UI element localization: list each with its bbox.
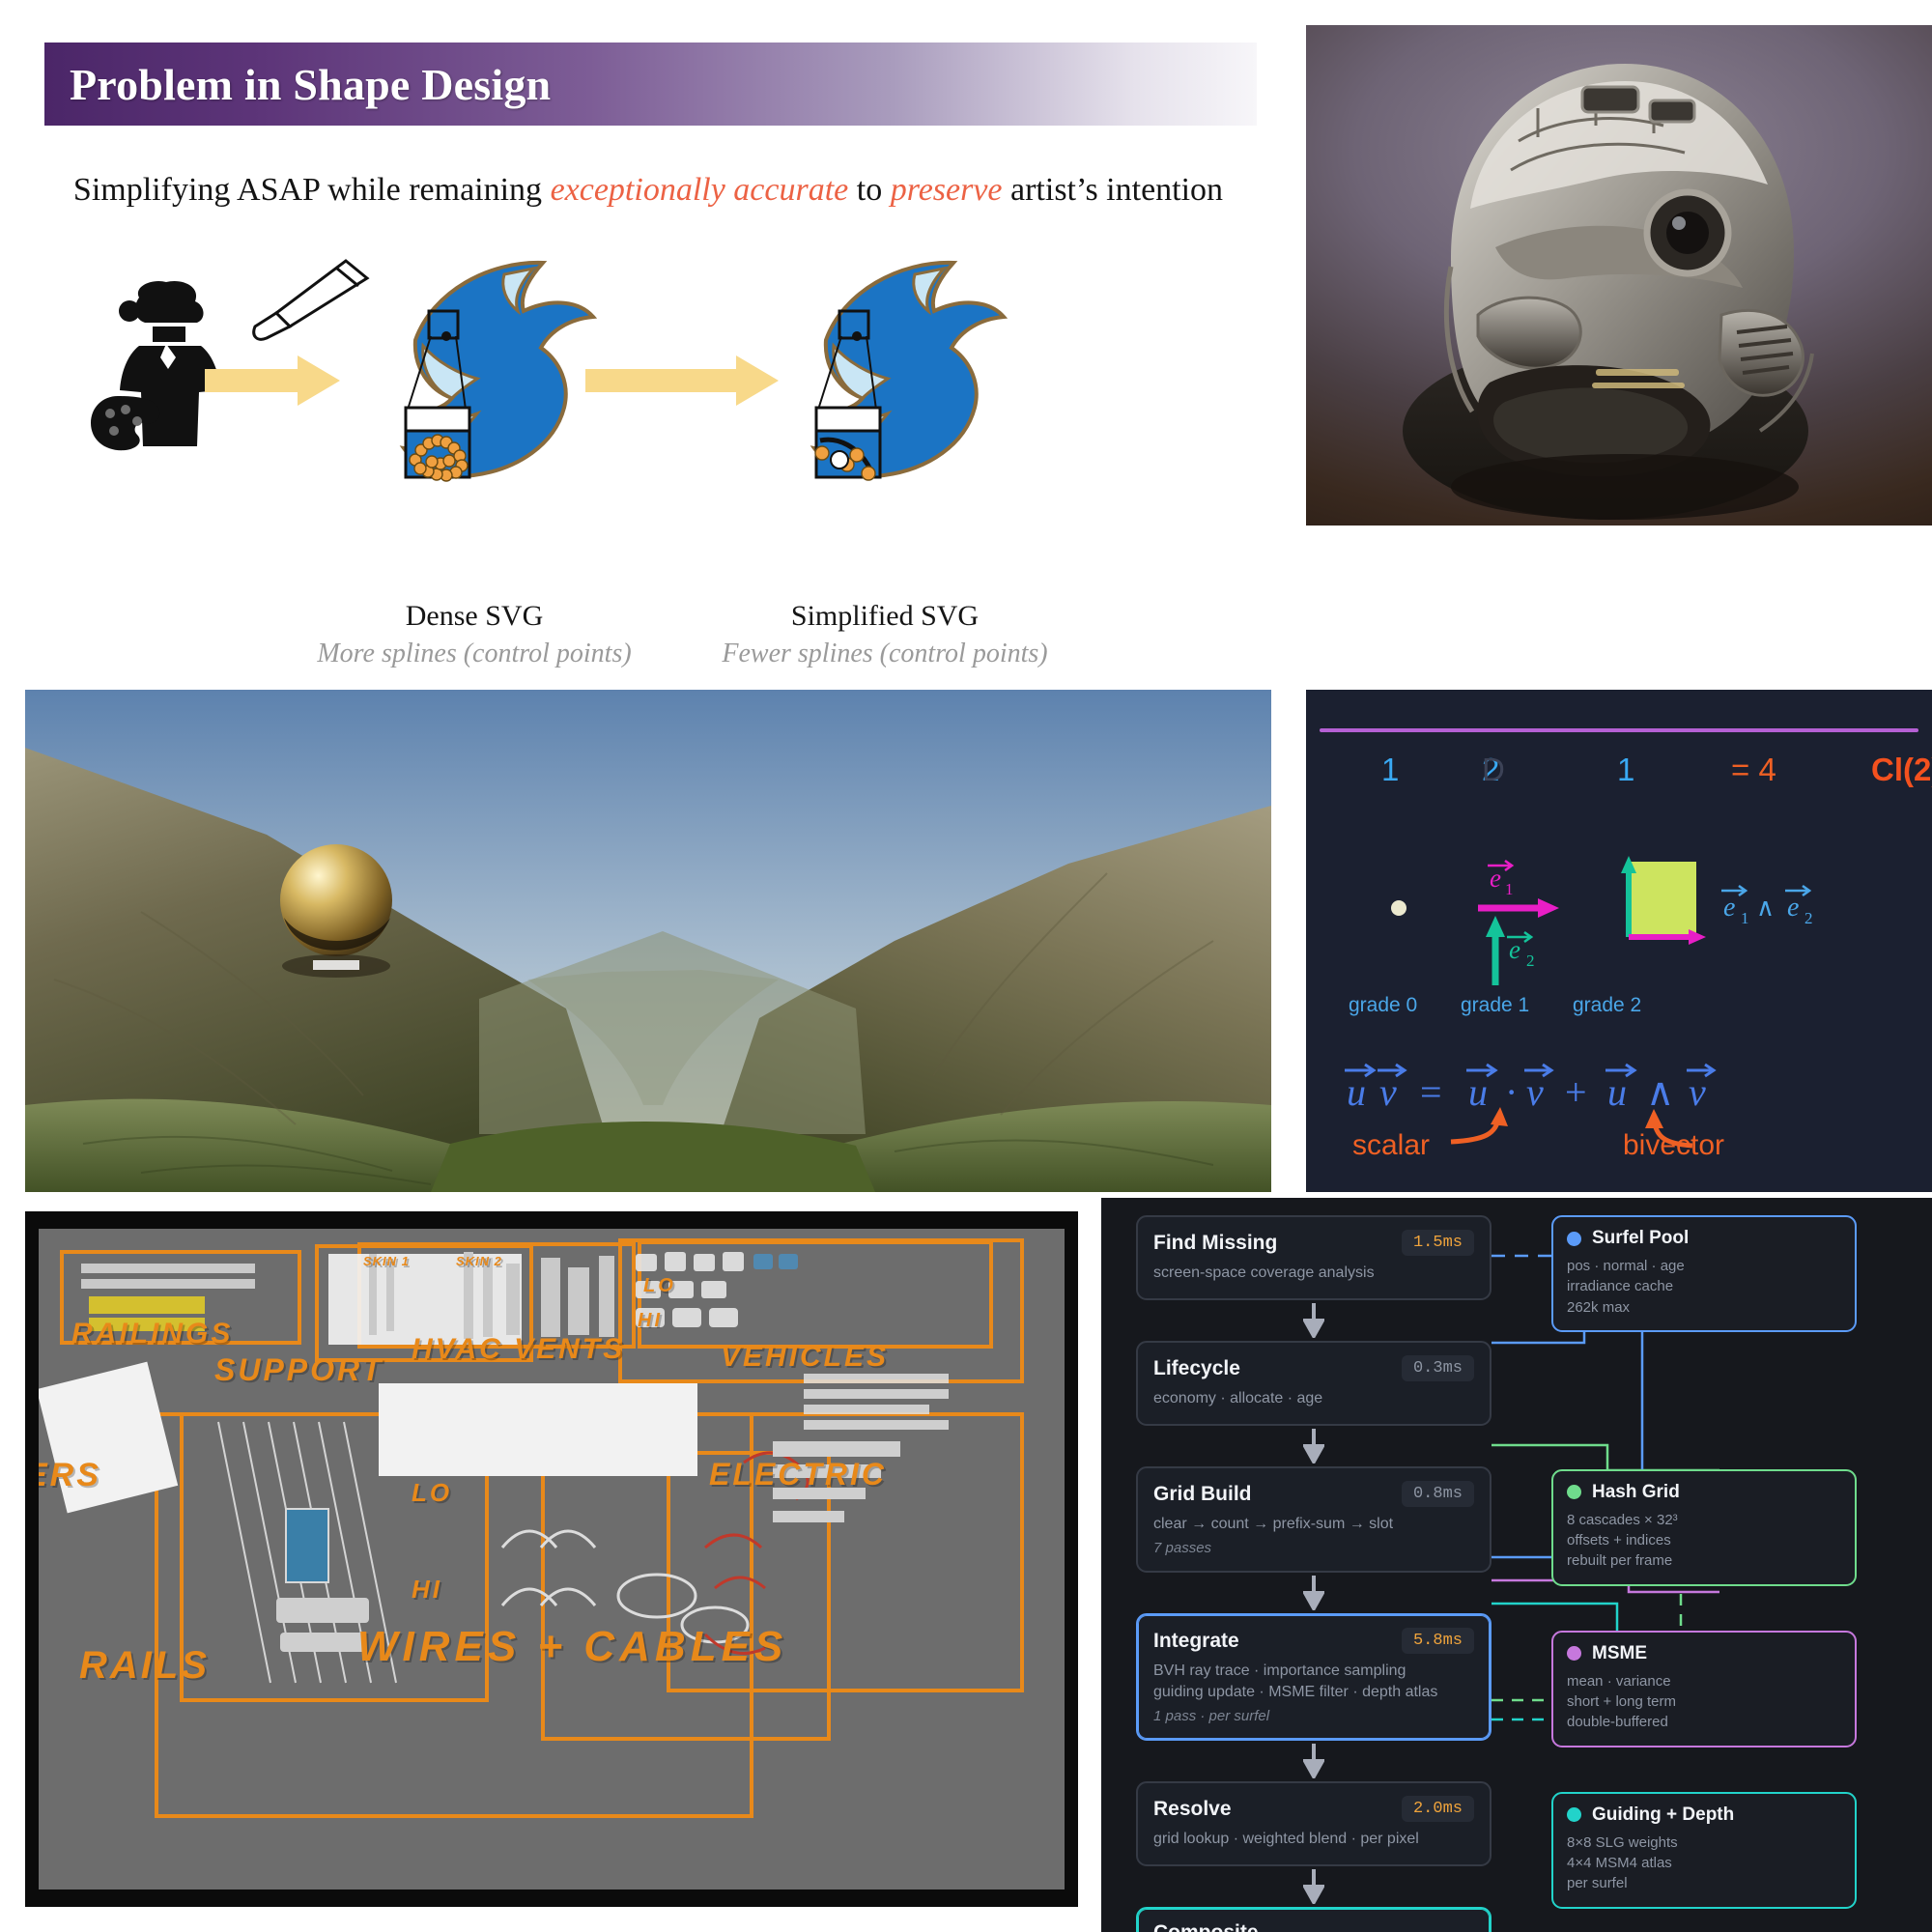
resource-line: rebuilt per frame bbox=[1567, 1550, 1841, 1571]
bivector-label: e 1 ∧ e 2 bbox=[1721, 886, 1813, 927]
resource-line: pos · normal · age bbox=[1567, 1256, 1841, 1276]
node-note: 1 pass · per surfel bbox=[1153, 1708, 1474, 1724]
zone-label-electric: ELECTRIC bbox=[709, 1457, 887, 1492]
flow-arrow-3 bbox=[1136, 1573, 1492, 1613]
algebra-label: Cl(2) bbox=[1871, 752, 1932, 788]
caption-dense-sub: More splines (control points) bbox=[300, 639, 648, 668]
lod-tag-hi-mid: HI bbox=[412, 1575, 442, 1605]
helmet-artwork bbox=[1306, 25, 1932, 526]
resource-card-msme[interactable]: MSME mean · variance short + long term d… bbox=[1551, 1631, 1857, 1747]
svg-text:·: · bbox=[1505, 1070, 1518, 1114]
node-timing-badge: 0.8ms bbox=[1402, 1481, 1474, 1507]
svg-text:e: e bbox=[1490, 864, 1501, 893]
arrow-down-icon bbox=[1303, 1429, 1324, 1463]
svg-text:1: 1 bbox=[1505, 880, 1514, 898]
svg-text:2: 2 bbox=[1526, 952, 1535, 970]
flow-arrow-1 bbox=[1136, 1300, 1492, 1341]
svg-text:v: v bbox=[1379, 1070, 1397, 1114]
resource-header: Guiding + Depth bbox=[1567, 1804, 1841, 1826]
grade-count-0: 1 bbox=[1381, 752, 1399, 788]
pipeline-node-lifecycle[interactable]: Lifecycle 0.3ms economy · allocate · age bbox=[1136, 1341, 1492, 1426]
node-title: Lifecycle bbox=[1153, 1357, 1240, 1380]
basis-elements-diagram: e 1 e 2 e 1 ∧ bbox=[1306, 815, 1932, 989]
zone-label-wires-cables: WIRES + CABLES bbox=[357, 1623, 787, 1671]
caption-simplified-title: Simplified SVG bbox=[711, 600, 1059, 633]
caption-dense-title: Dense SVG bbox=[300, 600, 648, 633]
resource-body: 8×8 SLG weights 4×4 MSM4 atlas per surfe… bbox=[1567, 1833, 1841, 1894]
svg-text:e: e bbox=[1509, 935, 1520, 964]
resource-line: 262k max bbox=[1567, 1297, 1841, 1318]
status-dot-icon bbox=[1567, 1646, 1581, 1661]
pipeline-flowchart: Find Missing 1.5ms screen-space coverage… bbox=[1101, 1198, 1932, 1932]
node-title: Integrate bbox=[1153, 1630, 1239, 1653]
node-title: Find Missing bbox=[1153, 1232, 1277, 1255]
node-note: 7 passes bbox=[1153, 1540, 1474, 1556]
resource-header: Surfel Pool bbox=[1567, 1228, 1841, 1249]
node-timing-badge: 2.0ms bbox=[1402, 1796, 1474, 1822]
svg-text:e: e bbox=[1723, 893, 1735, 923]
pipeline-node-grid-build[interactable]: Grid Build 0.8ms clear → count → prefix-… bbox=[1136, 1466, 1492, 1573]
resource-line: irradiance cache bbox=[1567, 1276, 1841, 1296]
node-header: Find Missing 1.5ms bbox=[1153, 1230, 1474, 1256]
shape-design-slide: Problem in Shape Design Simplifying ASAP… bbox=[25, 25, 1271, 668]
subtitle-part-2: to bbox=[848, 172, 890, 208]
svg-text:u: u bbox=[1468, 1070, 1488, 1114]
grade-legend-1: grade 1 bbox=[1461, 994, 1529, 1017]
resource-title: Guiding + Depth bbox=[1592, 1804, 1734, 1826]
page-title: Problem in Shape Design bbox=[44, 59, 551, 110]
grade-count-2: 1 bbox=[1617, 752, 1634, 788]
resource-line: 4×4 MSM4 atlas bbox=[1567, 1853, 1841, 1873]
resource-header: MSME bbox=[1567, 1643, 1841, 1664]
slide-subtitle: Simplifying ASAP while remaining excepti… bbox=[25, 172, 1271, 209]
pipeline-resource-column: Surfel Pool pos · normal · age irradianc… bbox=[1551, 1215, 1857, 1909]
arrow-down-icon bbox=[1303, 1869, 1324, 1904]
caption-dense: Dense SVG More splines (control points) bbox=[300, 600, 648, 668]
flow-arrow-4 bbox=[1136, 1741, 1492, 1781]
divider-rule bbox=[1320, 728, 1918, 732]
zone-label-hvac: HVAC VENTS bbox=[412, 1333, 625, 1366]
resource-card-guiding-depth[interactable]: Guiding + Depth 8×8 SLG weights 4×4 MSM4… bbox=[1551, 1792, 1857, 1909]
arrow-right-icon-2 bbox=[585, 355, 779, 406]
pipeline-illustration bbox=[25, 267, 1271, 556]
svg-text:e: e bbox=[1787, 893, 1799, 923]
pipeline-node-resolve[interactable]: Resolve 2.0ms grid lookup · weighted ble… bbox=[1136, 1781, 1492, 1866]
arrow-down-icon bbox=[1303, 1744, 1324, 1778]
lod-tag-lo-top: LO bbox=[643, 1275, 676, 1297]
resource-card-hash-grid[interactable]: Hash Grid 8 cascades × 32³ offsets + ind… bbox=[1551, 1469, 1857, 1586]
subtitle-part-1: Simplifying ASAP while remaining bbox=[73, 172, 551, 208]
resource-line: short + long term bbox=[1567, 1691, 1841, 1712]
resource-title: Hash Grid bbox=[1592, 1482, 1680, 1503]
grade-counts-row: 1 2D 1 = 4 Cl(2) bbox=[1306, 752, 1932, 800]
status-dot-icon bbox=[1567, 1232, 1581, 1246]
lod-tag-hi-top: HI bbox=[638, 1310, 663, 1332]
annotation-bivector: bivector bbox=[1623, 1129, 1724, 1162]
status-dot-icon bbox=[1567, 1807, 1581, 1822]
node-timing-badge: 0.3ms bbox=[1402, 1355, 1474, 1381]
subtitle-emphasis-2: preserve bbox=[891, 172, 1003, 208]
zone-label-railings: RAILINGS bbox=[71, 1318, 233, 1350]
terrain-render-image bbox=[25, 690, 1271, 1192]
resource-title: MSME bbox=[1592, 1643, 1647, 1664]
status-dot-icon bbox=[1567, 1485, 1581, 1499]
pipeline-node-integrate[interactable]: Integrate 5.8ms BVH ray trace · importan… bbox=[1136, 1613, 1492, 1741]
resource-body: 8 cascades × 32³ offsets + indices rebui… bbox=[1567, 1510, 1841, 1572]
resource-line: 8 cascades × 32³ bbox=[1567, 1510, 1841, 1530]
arrow-down-icon bbox=[1303, 1303, 1324, 1338]
lod-tag-skin-2: SKIN 2 bbox=[456, 1254, 502, 1268]
caption-simplified-sub: Fewer splines (control points) bbox=[711, 639, 1059, 668]
svg-text:∧: ∧ bbox=[1646, 1070, 1674, 1114]
node-header: Resolve 2.0ms bbox=[1153, 1796, 1474, 1822]
slide-title-bar: Problem in Shape Design bbox=[44, 43, 1257, 126]
geometric-algebra-diagram: 1 2D 1 = 4 Cl(2) e 1 e 2 bbox=[1306, 690, 1932, 1192]
resource-body: mean · variance short + long term double… bbox=[1567, 1671, 1841, 1733]
svg-text:u: u bbox=[1607, 1070, 1627, 1114]
node-description: clear → count → prefix-sum → slot bbox=[1153, 1514, 1474, 1535]
zone-label-ers: ERS bbox=[39, 1457, 101, 1494]
lod-tag-skin-1: SKIN 1 bbox=[363, 1254, 410, 1268]
arrow-down-icon bbox=[1303, 1576, 1324, 1610]
dimension-sum: = 4 bbox=[1731, 752, 1776, 788]
e1-vector-icon: e 1 bbox=[1478, 861, 1559, 918]
collage-page: Problem in Shape Design Simplifying ASAP… bbox=[0, 0, 1932, 1932]
svg-text:1: 1 bbox=[1741, 909, 1749, 927]
resource-body: pos · normal · age irradiance cache 262k… bbox=[1567, 1256, 1841, 1318]
node-timing-badge: 1.5ms bbox=[1402, 1230, 1474, 1256]
helmet-render-image bbox=[1306, 25, 1932, 526]
resource-card-surfel-pool[interactable]: Surfel Pool pos · normal · age irradianc… bbox=[1551, 1215, 1857, 1332]
dense-svg-illustration bbox=[344, 247, 605, 518]
node-description: screen-space coverage analysis bbox=[1153, 1263, 1474, 1284]
pipeline-node-composite[interactable]: Composite bbox=[1136, 1907, 1492, 1932]
pipeline-node-find-missing[interactable]: Find Missing 1.5ms screen-space coverage… bbox=[1136, 1215, 1492, 1300]
node-header: Composite bbox=[1153, 1921, 1474, 1932]
node-timing-badge: 5.8ms bbox=[1402, 1628, 1474, 1654]
subtitle-part-3: artist’s intention bbox=[1003, 172, 1224, 208]
svg-text:=: = bbox=[1420, 1070, 1442, 1114]
zone-label-rails: RAILS bbox=[79, 1644, 210, 1688]
node-title: Resolve bbox=[1153, 1798, 1232, 1821]
arrow-right-icon-1 bbox=[205, 355, 340, 406]
grade-legend-0: grade 0 bbox=[1349, 994, 1417, 1017]
scalar-point-icon bbox=[1391, 900, 1406, 916]
svg-text:v: v bbox=[1689, 1070, 1706, 1114]
svg-text:+: + bbox=[1565, 1070, 1587, 1114]
node-header: Grid Build 0.8ms bbox=[1153, 1481, 1474, 1507]
asset-sheet-screenshot: RAILINGS SUPPORT HVAC VENTS VEHICLES ELE… bbox=[25, 1211, 1078, 1907]
e2-vector-icon: e 2 bbox=[1486, 916, 1535, 985]
annotation-scalar: scalar bbox=[1352, 1129, 1430, 1162]
flow-arrow-5 bbox=[1136, 1866, 1492, 1907]
resource-header: Hash Grid bbox=[1567, 1482, 1841, 1503]
resource-line: mean · variance bbox=[1567, 1671, 1841, 1691]
subtitle-emphasis-1: exceptionally accurate bbox=[551, 172, 849, 208]
asset-sheet-viewport: RAILINGS SUPPORT HVAC VENTS VEHICLES ELE… bbox=[39, 1229, 1065, 1889]
resource-line: double-buffered bbox=[1567, 1712, 1841, 1732]
node-description: BVH ray trace · importance sampling guid… bbox=[1153, 1661, 1474, 1703]
svg-text:2: 2 bbox=[1804, 909, 1813, 927]
node-title: Composite bbox=[1153, 1921, 1259, 1932]
node-header: Integrate 5.8ms bbox=[1153, 1628, 1474, 1654]
resource-line: 8×8 SLG weights bbox=[1567, 1833, 1841, 1853]
node-description: grid lookup · weighted blend · per pixel bbox=[1153, 1829, 1474, 1850]
lod-tag-lo-mid: LO bbox=[412, 1478, 452, 1508]
svg-text:u: u bbox=[1347, 1070, 1366, 1114]
bivector-area-icon bbox=[1621, 856, 1706, 945]
equation-annotations: scalar bivector bbox=[1306, 1129, 1932, 1187]
svg-text:v: v bbox=[1526, 1070, 1544, 1114]
flow-arrow-2 bbox=[1136, 1426, 1492, 1466]
resource-title: Surfel Pool bbox=[1592, 1228, 1689, 1249]
resource-line: per surfel bbox=[1567, 1873, 1841, 1893]
resource-line: offsets + indices bbox=[1567, 1530, 1841, 1550]
node-header: Lifecycle 0.3ms bbox=[1153, 1355, 1474, 1381]
node-description: economy · allocate · age bbox=[1153, 1388, 1474, 1409]
caption-simplified: Simplified SVG Fewer splines (control po… bbox=[711, 600, 1059, 668]
simplified-svg-illustration bbox=[754, 247, 1015, 518]
zone-label-support: SUPPORT bbox=[214, 1352, 384, 1388]
terrain-artwork bbox=[25, 690, 1271, 1192]
grade-legend: grade 0 grade 1 grade 2 bbox=[1306, 994, 1932, 1033]
zone-label-vehicles: VEHICLES bbox=[721, 1341, 889, 1374]
node-title: Grid Build bbox=[1153, 1483, 1252, 1506]
svg-text:∧: ∧ bbox=[1756, 894, 1775, 922]
grade-legend-2: grade 2 bbox=[1573, 994, 1641, 1017]
pipeline-stage-column: Find Missing 1.5ms screen-space coverage… bbox=[1136, 1215, 1492, 1932]
